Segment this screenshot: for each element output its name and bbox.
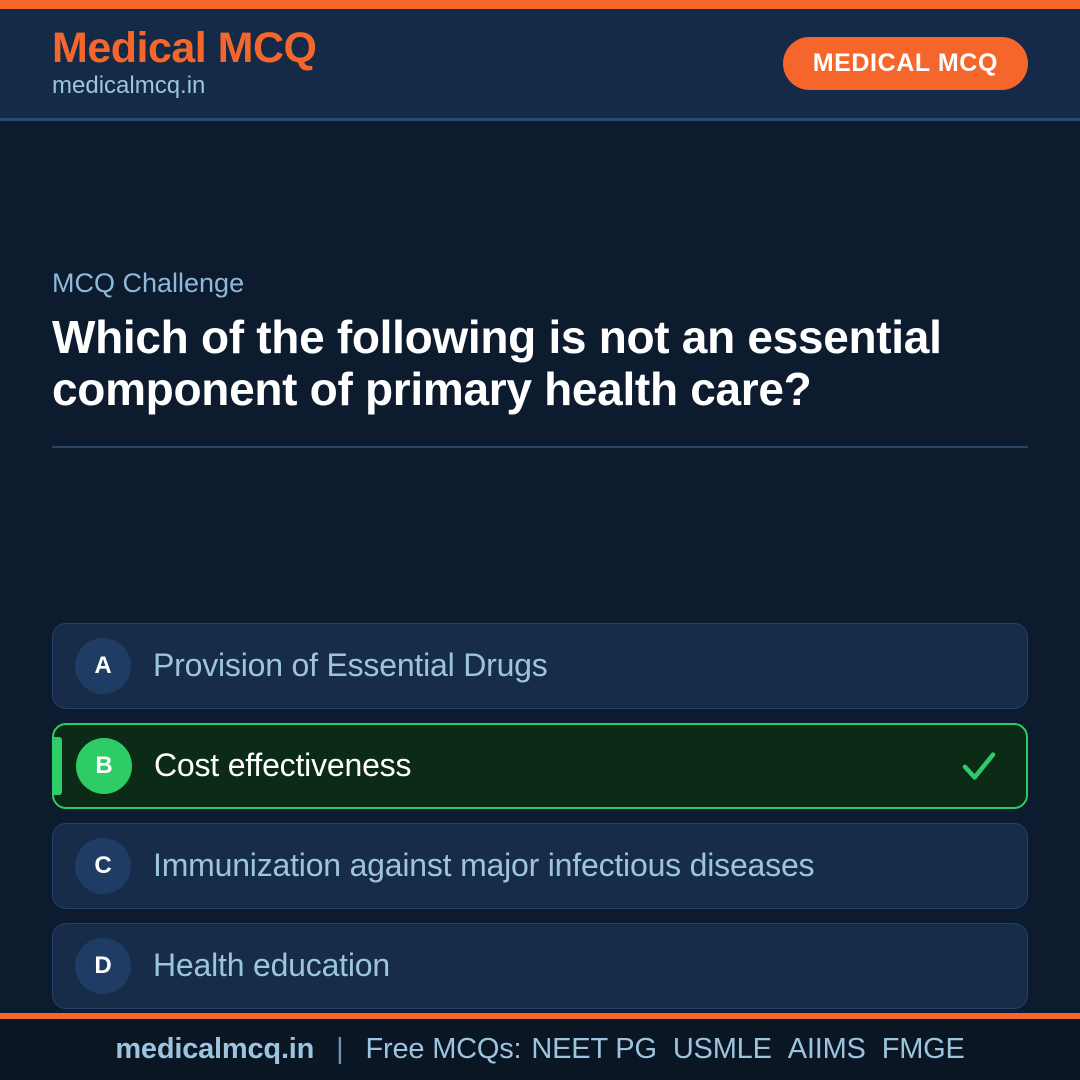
brand-block: Medical MCQ medicalmcq.in	[52, 27, 317, 100]
correct-accent-bar	[54, 737, 62, 795]
brand-subtitle: medicalmcq.in	[52, 72, 317, 100]
option-text: Provision of Essential Drugs	[153, 649, 1001, 683]
option-text: Immunization against major infectious di…	[153, 849, 1001, 883]
header-badge: MEDICAL MCQ	[783, 37, 1028, 90]
mcq-card: Medical MCQ medicalmcq.in MEDICAL MCQ MC…	[0, 0, 1080, 1080]
top-accent-bar	[0, 0, 1080, 9]
footer-exam: NEET PG	[531, 1033, 656, 1065]
option-b[interactable]: BCost effectiveness	[52, 723, 1028, 809]
option-letter-badge: A	[75, 638, 131, 694]
footer-exam: USMLE	[673, 1033, 772, 1065]
footer-bar: medicalmcq.in | Free MCQs: NEET PGUSMLEA…	[0, 1019, 1080, 1080]
options-list: AProvision of Essential DrugsBCost effec…	[52, 623, 1028, 1009]
brand-title: Medical MCQ	[52, 27, 317, 70]
check-icon	[958, 745, 1000, 787]
question-text: Which of the following is not an essenti…	[52, 311, 1028, 416]
footer-exam: AIIMS	[788, 1033, 866, 1065]
option-text: Health education	[153, 949, 1001, 983]
option-a[interactable]: AProvision of Essential Drugs	[52, 623, 1028, 709]
option-letter-badge: C	[75, 838, 131, 894]
option-c[interactable]: CImmunization against major infectious d…	[52, 823, 1028, 909]
question-eyebrow: MCQ Challenge	[52, 269, 1028, 299]
option-d[interactable]: DHealth education	[52, 923, 1028, 1009]
option-letter-badge: B	[76, 738, 132, 794]
footer-site: medicalmcq.in	[115, 1033, 314, 1066]
question-zone: MCQ Challenge Which of the following is …	[52, 269, 1028, 448]
footer-separator: |	[336, 1033, 343, 1066]
footer-exam: FMGE	[882, 1033, 965, 1065]
footer-exam-list: NEET PGUSMLEAIIMSFMGE	[531, 1033, 964, 1066]
main-content: MCQ Challenge Which of the following is …	[0, 121, 1080, 1013]
footer-inner: medicalmcq.in | Free MCQs: NEET PGUSMLEA…	[115, 1033, 964, 1066]
header-bar: Medical MCQ medicalmcq.in MEDICAL MCQ	[0, 9, 1080, 121]
option-letter-badge: D	[75, 938, 131, 994]
footer-label: Free MCQs:	[366, 1033, 522, 1066]
question-divider	[52, 446, 1028, 448]
option-text: Cost effectiveness	[154, 749, 942, 783]
